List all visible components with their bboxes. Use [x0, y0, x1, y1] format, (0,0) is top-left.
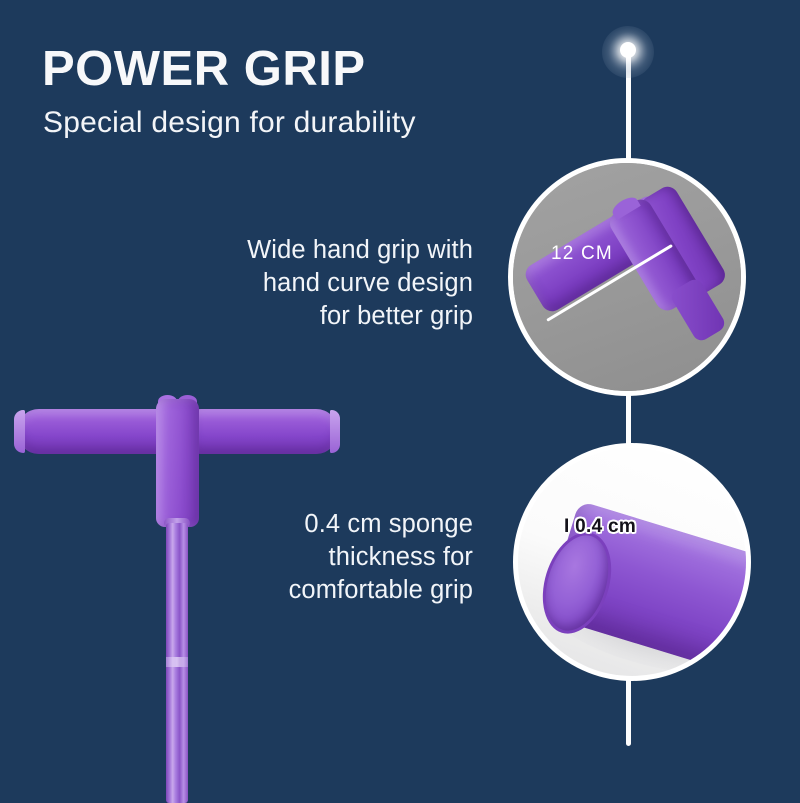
infographic-canvas: POWER GRIP Special design for durability… — [0, 0, 800, 800]
page-subtitle: Special design for durability — [43, 106, 416, 140]
callout-line: Wide hand grip with — [247, 234, 473, 267]
pole-seam-icon — [166, 657, 188, 667]
inset-grip-length: 12 CM — [508, 158, 746, 396]
inset-sponge-thickness: I 0.4 cm — [513, 443, 751, 681]
product-illustration — [0, 385, 360, 800]
foam-grip-left-icon — [17, 409, 169, 454]
callout-line: for better grip — [247, 300, 473, 333]
foam-grip-center-icon — [156, 399, 199, 527]
callout-line: hand curve design — [247, 267, 473, 300]
glow-dot-core-icon — [620, 42, 636, 58]
measurement-label-thickness: I 0.4 cm — [564, 516, 636, 538]
measurement-label-length: 12 CM — [551, 243, 613, 265]
foam-grip-right-icon — [192, 409, 338, 454]
page-title: POWER GRIP — [42, 44, 366, 95]
callout-wide-hand-grip: Wide hand grip with hand curve design fo… — [247, 234, 473, 333]
